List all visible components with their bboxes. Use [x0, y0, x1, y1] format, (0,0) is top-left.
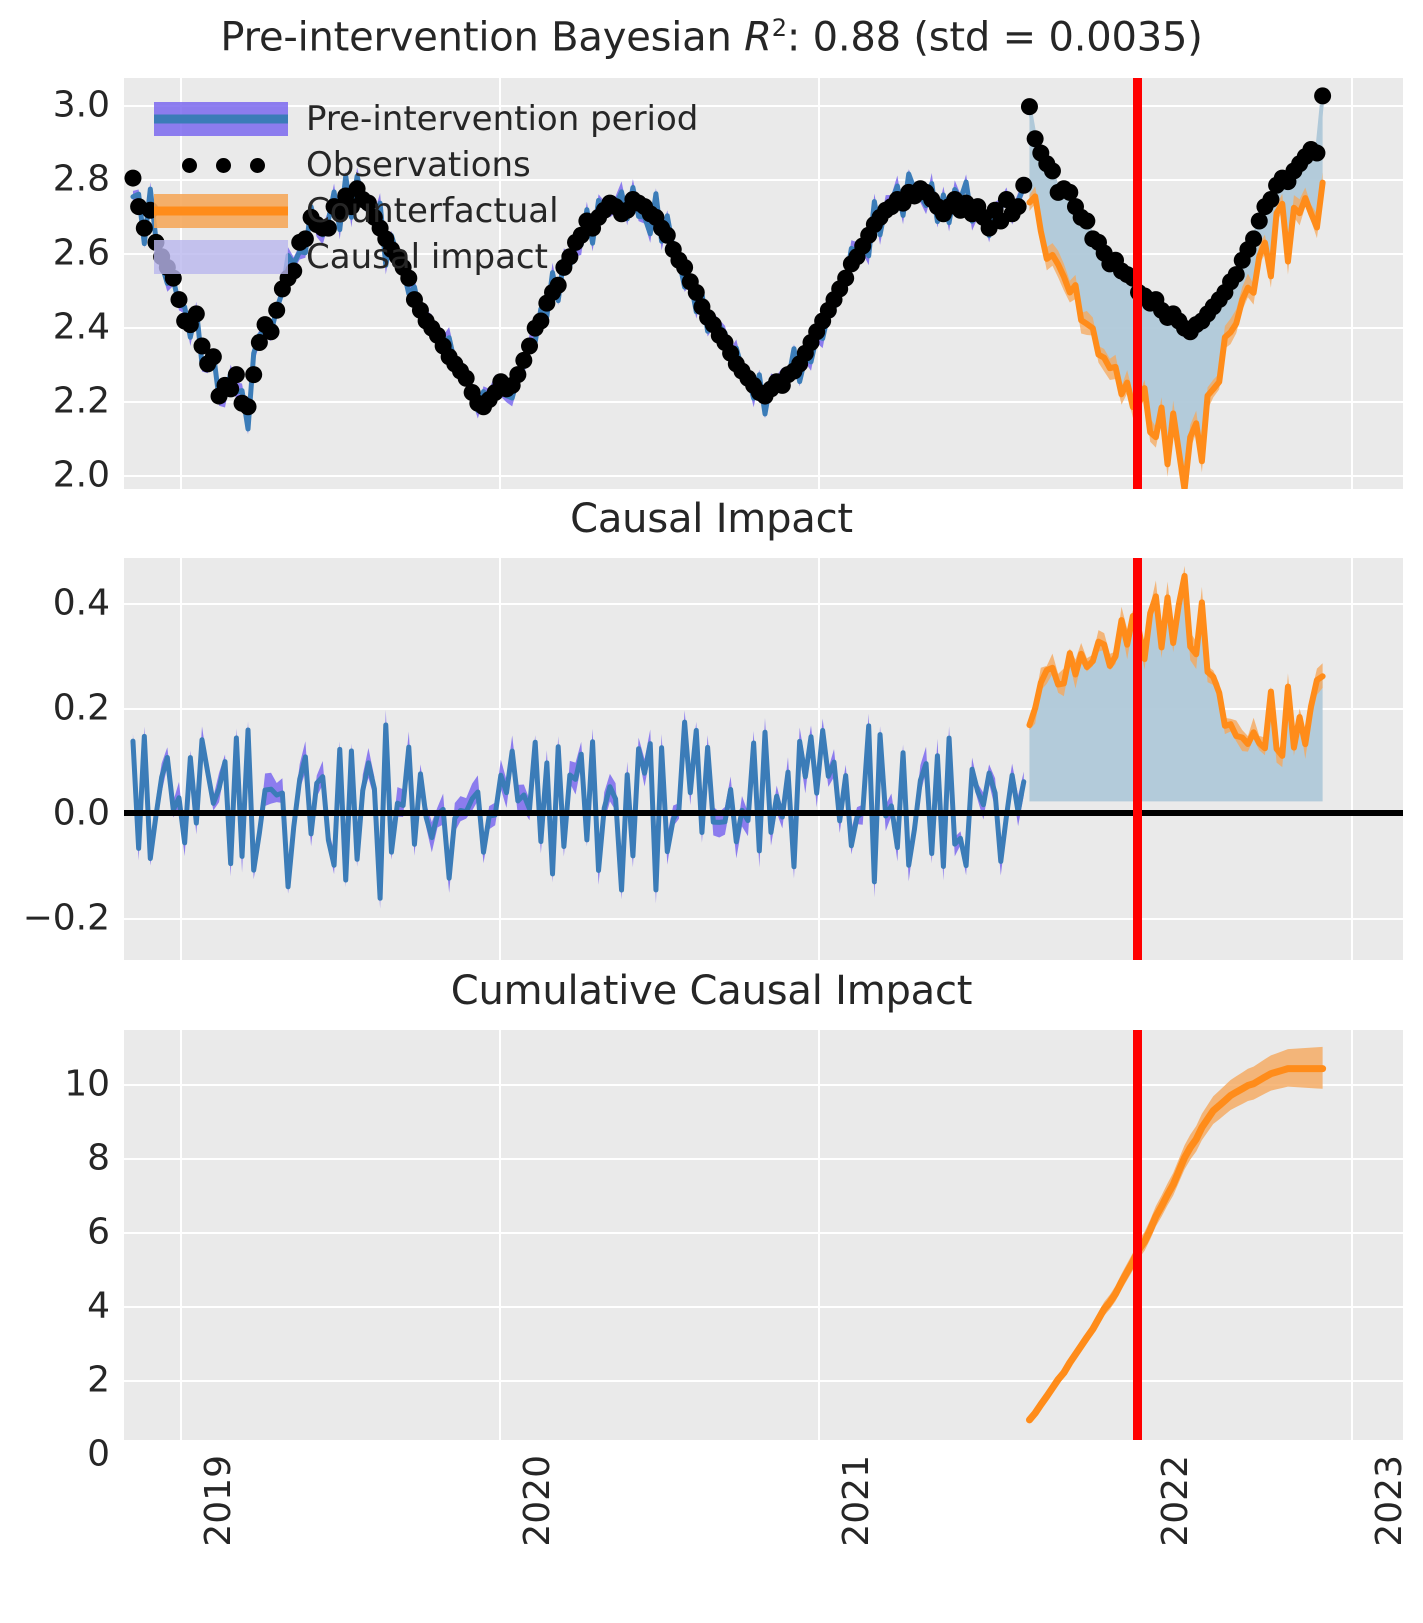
xtick-label: 2021: [836, 1455, 877, 1547]
ytick-label: 2.8: [53, 159, 110, 200]
ytick-label: 2.0: [53, 455, 110, 496]
ytick-label: 0.4: [53, 583, 110, 624]
ytick-label: 2: [87, 1360, 110, 1401]
legend-label-counterfactual: Counterfactual: [306, 191, 559, 231]
xtick-label: 2019: [198, 1455, 239, 1547]
yaxis-pointwise: 0.4 0.2 0.0 −0.2: [0, 558, 110, 960]
plot-area-pointwise: [124, 558, 1403, 960]
legend-label-pre-intervention: Pre-intervention period: [306, 99, 698, 139]
zero-line: [124, 810, 1403, 816]
legend-swatch-pre-intervention: [154, 102, 288, 136]
panel-cumulative-impact: [124, 1030, 1403, 1440]
title-suffix: : 0.88 (std = 0.0035): [787, 14, 1203, 60]
panel-pointwise-impact: [124, 558, 1403, 960]
title-r-symbol: R: [744, 14, 772, 60]
ytick-label: 0.0: [53, 793, 110, 834]
legend-item-observations: Observations: [138, 142, 658, 188]
intervention-line: [1133, 1030, 1142, 1440]
ytick-label: 2.6: [53, 233, 110, 274]
yaxis-main: 3.0 2.8 2.6 2.4 2.2 2.0: [0, 78, 110, 489]
legend-swatch-observations: [154, 148, 288, 182]
ytick-label: 10: [64, 1064, 110, 1105]
legend: Pre-intervention period Observations: [138, 96, 658, 280]
legend-label-causal-impact: Causal impact: [306, 237, 548, 277]
legend-item-counterfactual: Counterfactual: [138, 188, 658, 234]
title-r-exponent: 2: [772, 14, 787, 42]
ytick-label: −0.2: [23, 898, 110, 939]
plot-area-cumulative: [124, 1030, 1403, 1440]
legend-label-observations: Observations: [306, 145, 531, 185]
ytick-label: 2.2: [53, 381, 110, 422]
title-prefix: Pre-intervention Bayesian: [220, 14, 744, 60]
legend-item-causal-impact: Causal impact: [138, 234, 658, 280]
ytick-label: 8: [87, 1138, 110, 1179]
xtick-label: 2020: [517, 1455, 558, 1547]
ytick-label: 2.4: [53, 307, 110, 348]
xtick-label: 2022: [1155, 1455, 1196, 1547]
ytick-label: 3.0: [53, 85, 110, 126]
legend-item-pre-intervention: Pre-intervention period: [138, 96, 658, 142]
xaxis-ticks: 2019 2020 2021 2022 2023: [124, 1455, 1403, 1615]
panel-observed-counterfactual: Pre-intervention period Observations: [124, 78, 1403, 489]
ytick-label: 0.2: [53, 688, 110, 729]
panel-title-causal-impact: Causal Impact: [0, 496, 1423, 542]
ytick-label: 6: [87, 1212, 110, 1253]
legend-swatch-counterfactual: [154, 194, 288, 228]
legend-swatch-causal-impact: [154, 240, 288, 274]
intervention-line: [1133, 558, 1142, 960]
intervention-line: [1133, 78, 1142, 489]
ytick-label: 0: [87, 1434, 110, 1475]
ytick-label: 4: [87, 1286, 110, 1327]
panel-title-cumulative-impact: Cumulative Causal Impact: [0, 968, 1423, 1014]
panel-title-main: Pre-intervention Bayesian R2: 0.88 (std …: [0, 14, 1423, 60]
yaxis-cumulative: 10 8 6 4 2 0: [0, 1030, 110, 1440]
xtick-label: 2023: [1369, 1455, 1410, 1547]
